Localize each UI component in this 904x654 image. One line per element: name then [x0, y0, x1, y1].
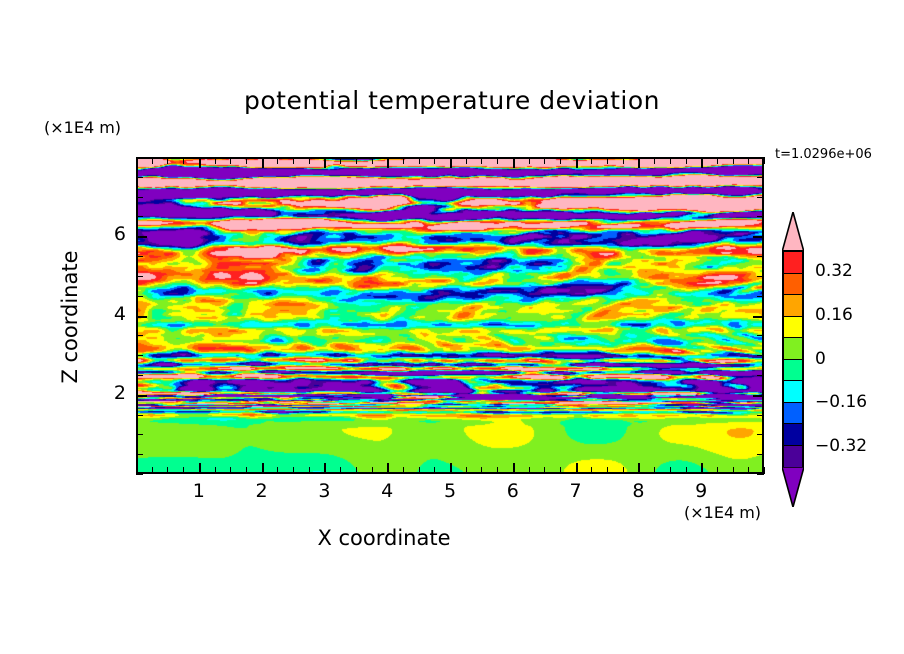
- colorbar-tick-label: 0.16: [815, 305, 853, 325]
- y-tick-right: [757, 177, 764, 178]
- x-tick: [136, 467, 137, 474]
- x-tick-top: [544, 157, 545, 164]
- x-tick-top: [466, 157, 467, 164]
- y-tick: [136, 157, 143, 158]
- x-tick-top: [733, 157, 734, 164]
- x-tick-label: 9: [681, 480, 721, 502]
- x-tick-top: [560, 157, 561, 164]
- x-tick-top: [246, 157, 247, 164]
- x-tick-top: [654, 157, 655, 164]
- y-tick-right: [753, 236, 764, 238]
- x-tick: [199, 463, 201, 474]
- x-tick-top: [152, 157, 153, 164]
- x-tick-top: [748, 157, 749, 164]
- x-tick-top: [481, 157, 482, 164]
- y-tick: [136, 415, 143, 416]
- x-tick: [293, 467, 294, 474]
- x-tick: [560, 467, 561, 474]
- colorbar-bands: [782, 250, 804, 469]
- x-tick: [419, 467, 420, 474]
- x-tick: [654, 467, 655, 474]
- x-tick: [340, 467, 341, 474]
- y-tick: [136, 256, 143, 257]
- colorbar[interactable]: 0.320.160−0.16−0.32: [777, 212, 811, 507]
- x-tick: [403, 467, 404, 474]
- y-tick-right: [757, 415, 764, 416]
- x-tick-top: [513, 157, 515, 168]
- y-tick-label: 4: [92, 303, 126, 325]
- x-tick-label: 4: [367, 480, 407, 502]
- x-tick: [434, 467, 435, 474]
- y-tick: [136, 335, 143, 336]
- x-tick: [497, 467, 498, 474]
- x-axis-title: X coordinate: [0, 526, 768, 550]
- x-tick-top: [764, 157, 765, 164]
- y-axis-title: Z coordinate: [58, 187, 82, 447]
- colorbar-band: [784, 317, 802, 339]
- y-tick-right: [757, 157, 764, 158]
- colorbar-tick-label: −0.32: [815, 436, 867, 456]
- y-tick: [136, 474, 143, 475]
- y-tick-right: [757, 375, 764, 376]
- x-tick: [764, 467, 765, 474]
- y-tick: [136, 276, 143, 277]
- y-tick-right: [757, 276, 764, 277]
- x-tick-label: 7: [556, 480, 596, 502]
- colorbar-band: [784, 252, 802, 274]
- x-tick-top: [686, 157, 687, 164]
- x-tick: [701, 463, 703, 474]
- x-tick-label: 6: [493, 480, 533, 502]
- x-tick-top: [607, 157, 608, 164]
- x-tick-top: [403, 157, 404, 164]
- x-tick-top: [324, 157, 326, 168]
- x-tick-top: [230, 157, 231, 164]
- x-tick: [481, 467, 482, 474]
- x-tick: [387, 463, 389, 474]
- x-axis-unit-label: (×1E4 m): [684, 503, 761, 522]
- y-tick-right: [757, 454, 764, 455]
- y-tick: [136, 236, 147, 238]
- y-tick: [136, 197, 143, 198]
- colorbar-band: [784, 274, 802, 296]
- y-tick-right: [757, 296, 764, 297]
- colorbar-band: [784, 403, 802, 425]
- y-tick-right: [757, 335, 764, 336]
- x-tick-top: [623, 157, 624, 164]
- y-tick: [136, 177, 143, 178]
- page-title: potential temperature deviation: [0, 86, 904, 115]
- x-tick: [324, 463, 326, 474]
- x-tick-top: [576, 157, 578, 168]
- colorbar-under-arrow-icon: [782, 467, 804, 507]
- x-tick: [356, 467, 357, 474]
- x-tick: [372, 467, 373, 474]
- colorbar-band: [784, 424, 802, 446]
- colorbar-tick-label: 0.32: [815, 261, 853, 281]
- y-tick-right: [757, 474, 764, 475]
- x-tick-top: [309, 157, 310, 164]
- y-tick-right: [757, 216, 764, 217]
- x-tick-top: [638, 157, 640, 168]
- x-tick-label: 1: [179, 480, 219, 502]
- x-tick: [450, 463, 452, 474]
- x-tick-top: [529, 157, 530, 164]
- x-tick-top: [183, 157, 184, 164]
- x-tick-label: 8: [618, 480, 658, 502]
- x-tick: [183, 467, 184, 474]
- x-tick-top: [434, 157, 435, 164]
- x-tick-top: [701, 157, 703, 168]
- x-tick: [152, 467, 153, 474]
- colorbar-band: [784, 338, 802, 360]
- x-tick: [230, 467, 231, 474]
- x-tick-top: [167, 157, 168, 164]
- x-tick: [167, 467, 168, 474]
- x-tick: [686, 467, 687, 474]
- x-tick-top: [670, 157, 671, 164]
- y-tick-right: [757, 256, 764, 257]
- x-tick-top: [419, 157, 420, 164]
- y-tick-right: [757, 197, 764, 198]
- y-tick: [136, 316, 147, 318]
- x-tick: [717, 467, 718, 474]
- colorbar-band: [784, 295, 802, 317]
- x-tick-top: [591, 157, 592, 164]
- x-tick-top: [340, 157, 341, 164]
- y-tick-right: [753, 316, 764, 318]
- y-tick: [136, 296, 143, 297]
- x-tick-top: [136, 157, 137, 164]
- x-tick-top: [262, 157, 264, 168]
- x-tick: [215, 467, 216, 474]
- x-tick-top: [277, 157, 278, 164]
- x-tick: [544, 467, 545, 474]
- x-tick-top: [215, 157, 216, 164]
- x-tick-top: [717, 157, 718, 164]
- colorbar-band: [784, 446, 802, 468]
- y-tick: [136, 216, 143, 217]
- x-tick: [309, 467, 310, 474]
- colorbar-tick-label: −0.16: [815, 392, 867, 412]
- y-tick-label: 6: [92, 223, 126, 245]
- y-tick-label: 2: [92, 382, 126, 404]
- y-tick: [136, 454, 143, 455]
- contour-field: [138, 159, 764, 474]
- colorbar-tick-label: 0: [815, 349, 826, 369]
- x-tick-top: [199, 157, 201, 168]
- y-tick: [136, 375, 143, 376]
- x-tick: [246, 467, 247, 474]
- x-tick-top: [372, 157, 373, 164]
- time-annotation: t=1.0296e+06: [775, 147, 872, 162]
- x-tick: [466, 467, 467, 474]
- x-tick: [262, 463, 264, 474]
- x-tick: [638, 463, 640, 474]
- colorbar-band: [784, 360, 802, 382]
- x-tick-label: 3: [304, 480, 344, 502]
- colorbar-over-arrow-icon: [782, 212, 804, 252]
- y-tick-right: [757, 355, 764, 356]
- x-tick: [277, 467, 278, 474]
- contour-plot-area[interactable]: [136, 157, 764, 474]
- x-tick: [748, 467, 749, 474]
- y-tick-right: [753, 395, 764, 397]
- x-tick-top: [356, 157, 357, 164]
- x-tick: [733, 467, 734, 474]
- y-tick: [136, 355, 143, 356]
- x-tick: [529, 467, 530, 474]
- y-tick: [136, 434, 143, 435]
- x-tick: [607, 467, 608, 474]
- x-tick: [513, 463, 515, 474]
- x-tick-label: 5: [430, 480, 470, 502]
- x-tick: [576, 463, 578, 474]
- colorbar-band: [784, 381, 802, 403]
- x-tick-top: [497, 157, 498, 164]
- x-tick: [670, 467, 671, 474]
- y-tick: [136, 395, 147, 397]
- x-tick-top: [293, 157, 294, 164]
- x-tick: [591, 467, 592, 474]
- y-axis-unit-label: (×1E4 m): [44, 118, 121, 137]
- x-tick-label: 2: [242, 480, 282, 502]
- x-tick-top: [387, 157, 389, 168]
- y-tick-right: [757, 434, 764, 435]
- x-tick-top: [450, 157, 452, 168]
- x-tick: [623, 467, 624, 474]
